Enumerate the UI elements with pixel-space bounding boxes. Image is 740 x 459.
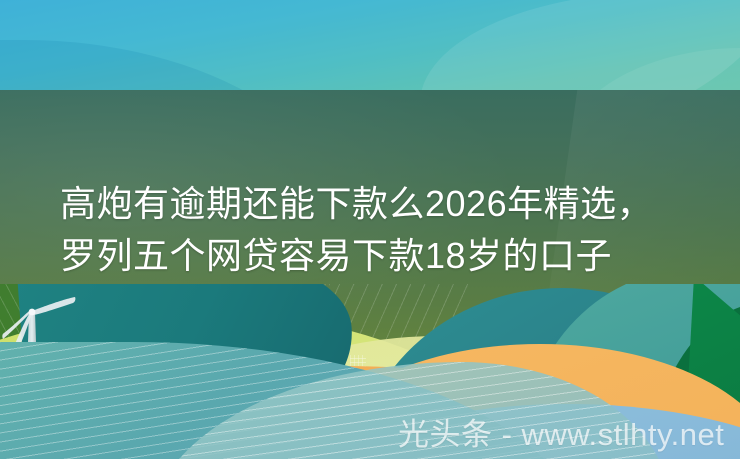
watermark-text: 光头条 - www.stlhty.net [398, 415, 724, 455]
poster-image: 高炮有逾期还能下款么2026年精选， 罗列五个网贷容易下款18岁的口子 [0, 0, 740, 459]
sky-band [0, 0, 740, 90]
headline-text: 高炮有逾期还能下款么2026年精选， 罗列五个网贷容易下款18岁的口子 [60, 178, 700, 282]
